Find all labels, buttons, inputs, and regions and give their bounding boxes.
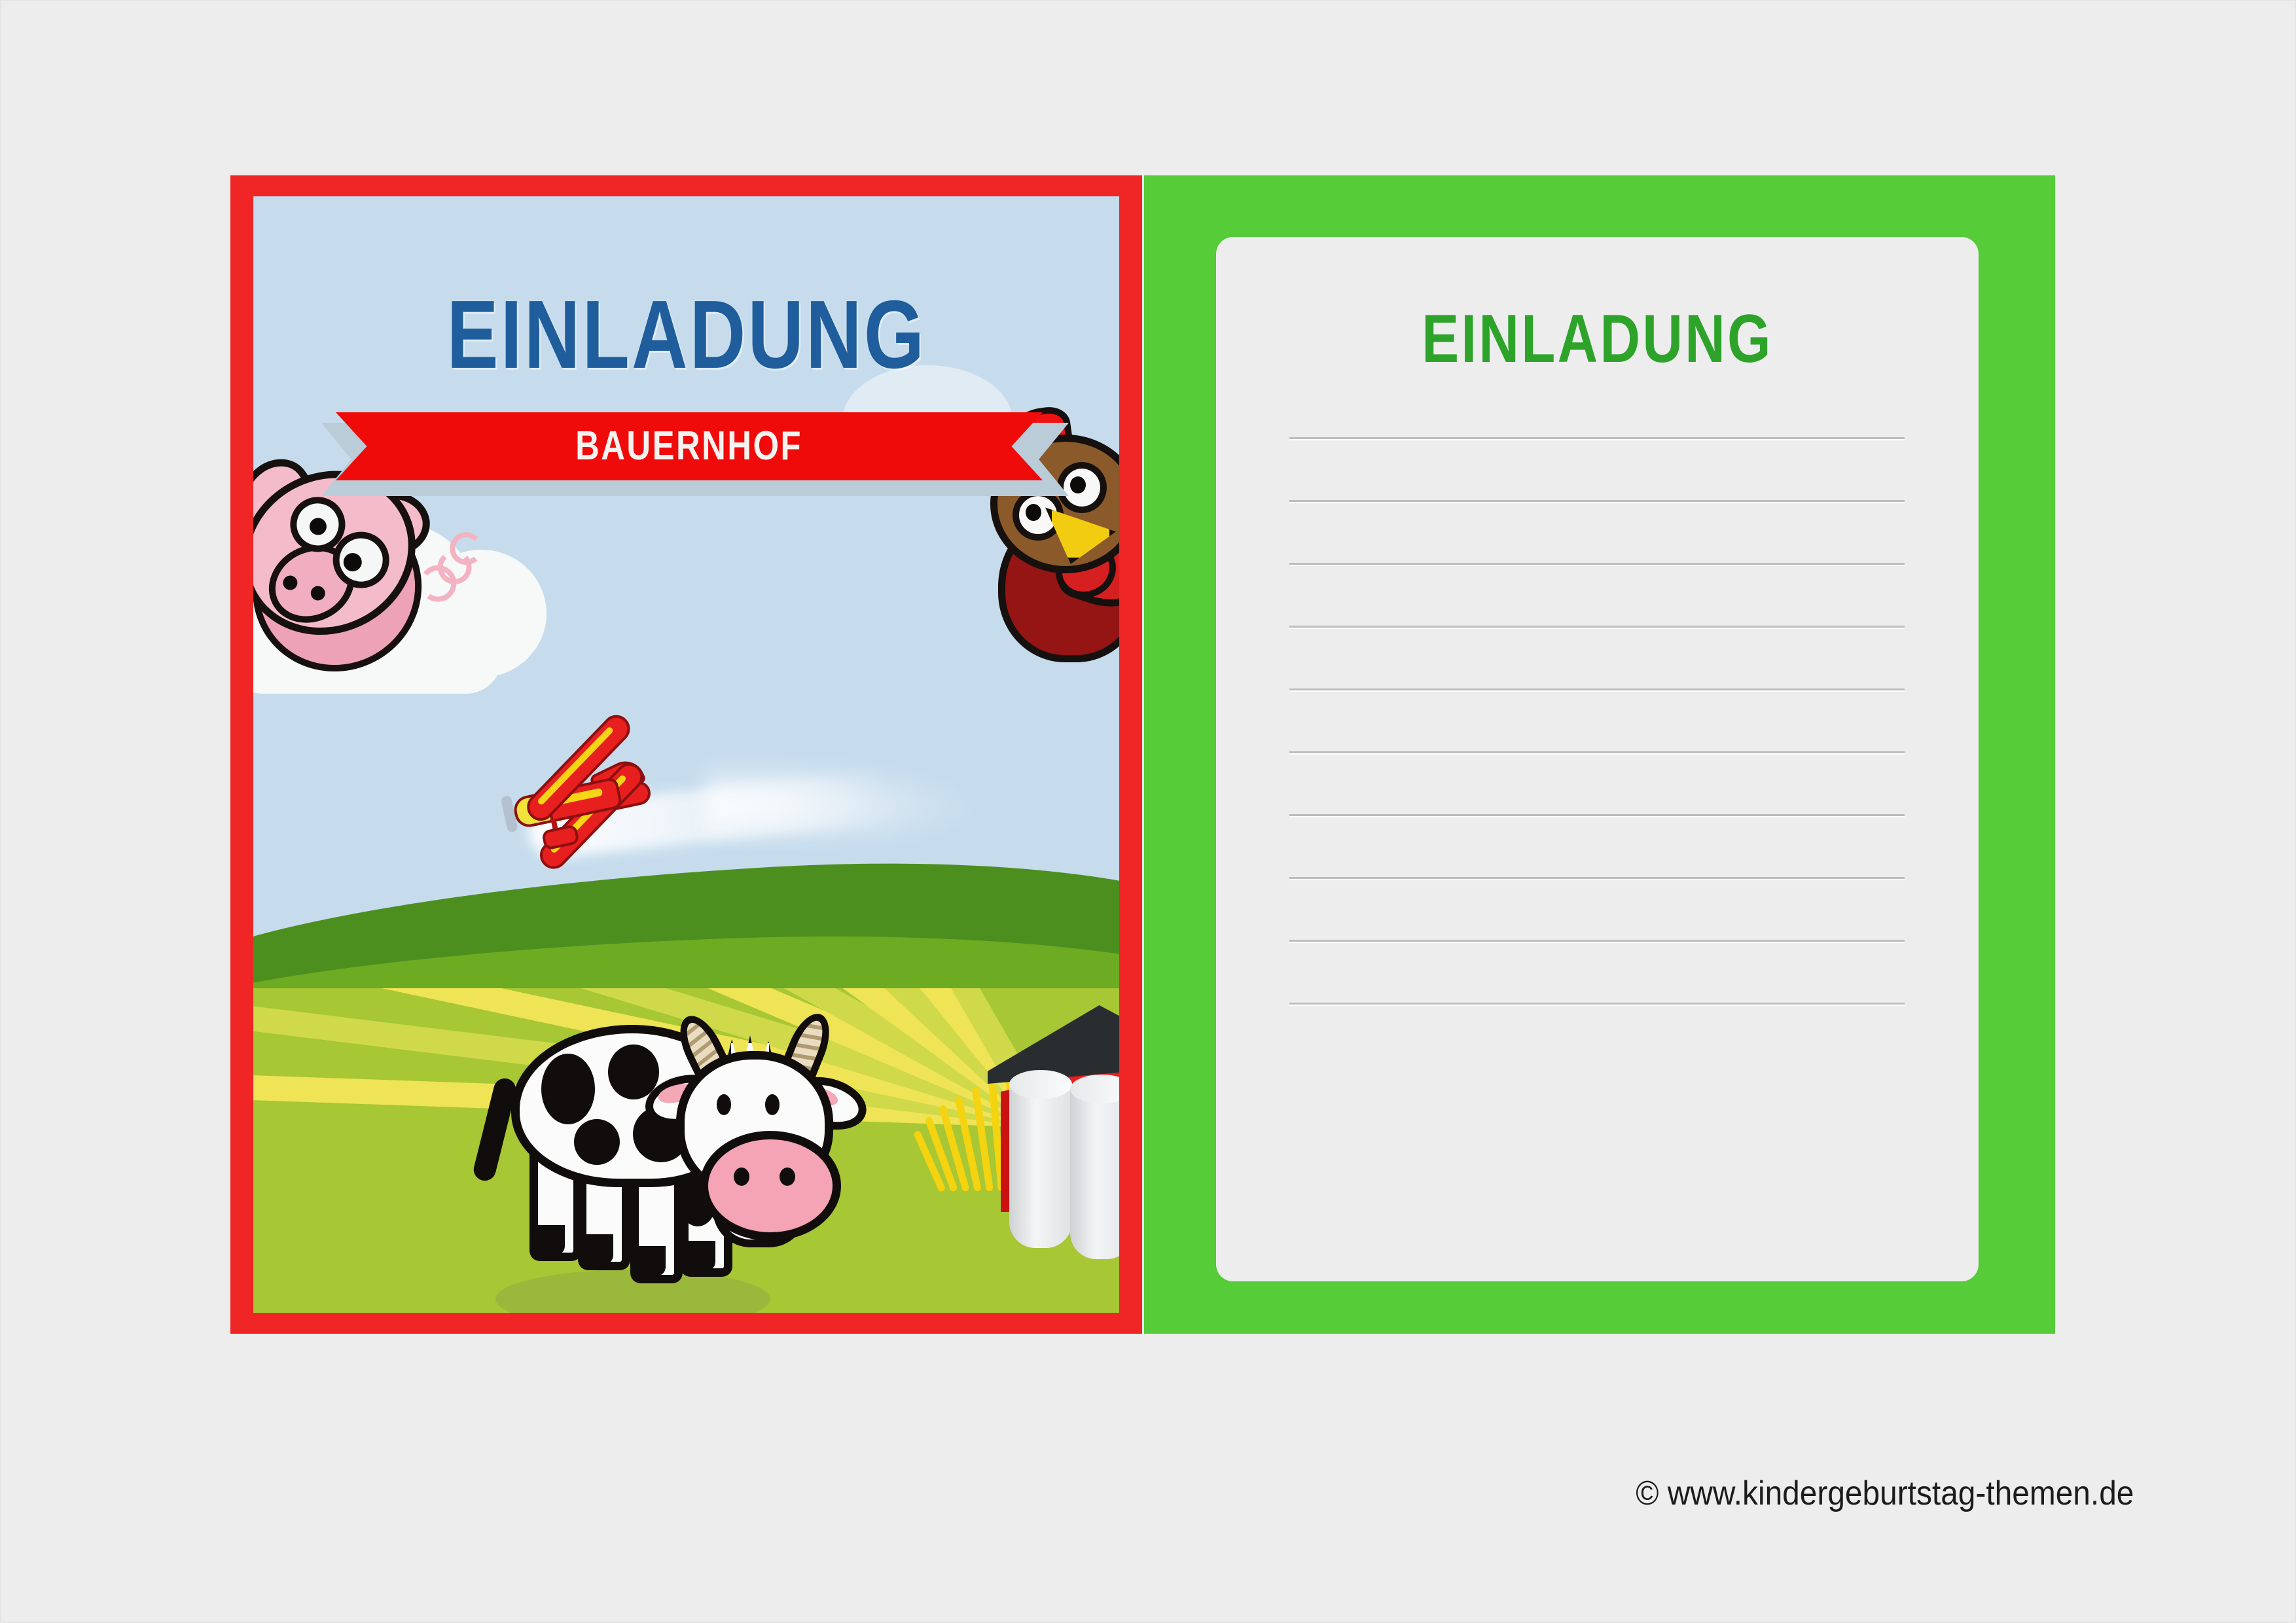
writing-line[interactable] — [1289, 940, 1905, 942]
cow-hoof — [680, 1241, 715, 1271]
writing-line[interactable] — [1289, 626, 1905, 628]
cow-spot — [541, 1054, 595, 1124]
writing-line[interactable] — [1289, 500, 1905, 502]
cow-eye — [765, 1094, 780, 1115]
writing-line[interactable] — [1289, 1003, 1905, 1005]
biplane-icon — [505, 736, 670, 881]
contrail-haze — [705, 759, 980, 838]
writing-line[interactable] — [1289, 437, 1905, 439]
cow-eye — [717, 1094, 731, 1115]
writing-line[interactable] — [1289, 563, 1905, 565]
cow-hoof — [529, 1225, 565, 1255]
writing-line[interactable] — [1289, 688, 1905, 690]
inside-title: EINLADUNG — [1285, 305, 1910, 373]
writing-line[interactable] — [1289, 751, 1905, 753]
front-title-block: EINLADUNG — [253, 287, 1119, 383]
cow-spot — [574, 1119, 620, 1165]
cow-hoof — [578, 1234, 613, 1264]
invitation-inside-card: EINLADUNG — [1144, 175, 2055, 1334]
writing-line[interactable] — [1289, 814, 1905, 816]
cow-nostril — [780, 1168, 795, 1186]
farm-scene-illustration: EINLADUNG BAUERNHOF — [253, 196, 1119, 1313]
cow-hoof — [630, 1246, 666, 1276]
writing-lines[interactable] — [1289, 437, 1905, 1005]
page-title: EINLADUNG — [446, 287, 926, 383]
invitation-front-card: EINLADUNG BAUERNHOF — [230, 175, 1142, 1334]
cow-snout — [700, 1131, 841, 1241]
writing-sheet[interactable]: EINLADUNG — [1216, 237, 1979, 1281]
ribbon-banner: BAUERNHOF — [336, 412, 1043, 491]
theme-label: BAUERNHOF — [576, 426, 803, 467]
cow-icon — [469, 979, 836, 1306]
writing-line[interactable] — [1289, 877, 1905, 879]
ribbon: BAUERNHOF — [336, 412, 1043, 480]
copyright-credit: © www.kindergeburtstag-themen.de — [1636, 1474, 2134, 1513]
cow-tail — [471, 1076, 518, 1183]
cow-nostril — [734, 1168, 749, 1186]
